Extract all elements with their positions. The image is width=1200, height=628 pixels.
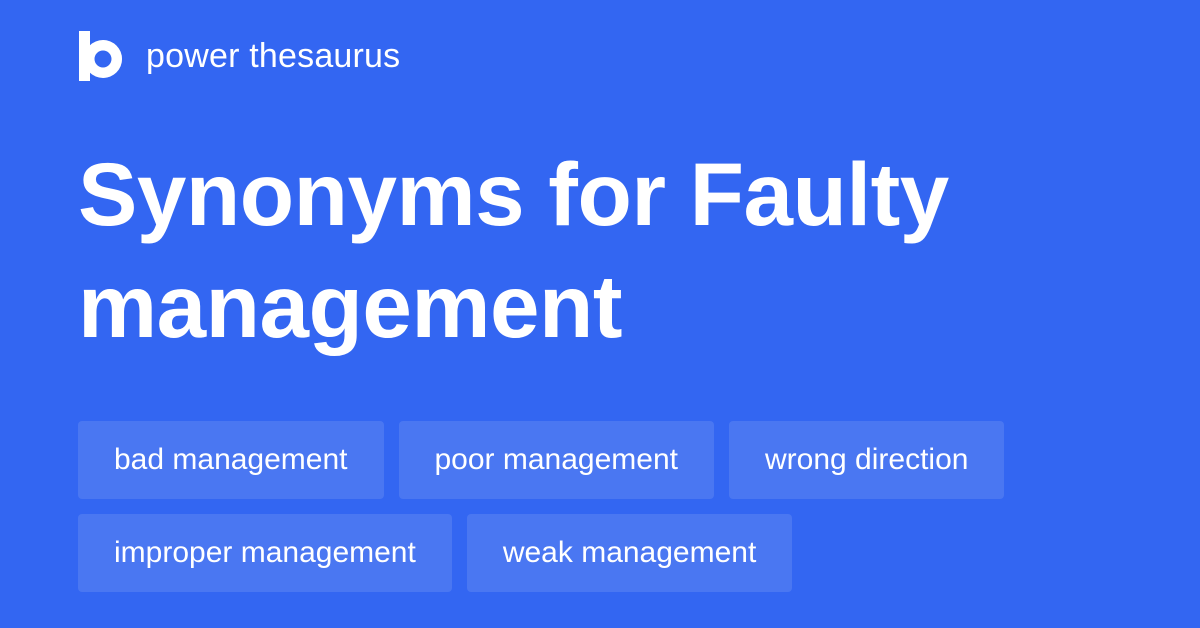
synonym-chip[interactable]: weak management	[467, 514, 792, 592]
synonym-chip[interactable]: bad management	[78, 421, 384, 499]
brand-name: power thesaurus	[146, 39, 400, 73]
synonym-list: bad management poor management wrong dir…	[78, 421, 1138, 592]
page-title: Synonyms for Faulty management	[78, 138, 1118, 362]
power-thesaurus-b-logo-icon	[78, 31, 124, 81]
synonym-chip[interactable]: improper management	[78, 514, 452, 592]
page-title-line-2: management	[78, 250, 1118, 362]
page-title-line-1: Synonyms for Faulty	[78, 138, 1118, 250]
synonym-chip[interactable]: wrong direction	[729, 421, 1004, 499]
brand-lockup[interactable]: power thesaurus	[78, 28, 400, 84]
synonym-chip[interactable]: poor management	[399, 421, 715, 499]
synonym-card: power thesaurus Synonyms for Faulty mana…	[0, 0, 1200, 628]
